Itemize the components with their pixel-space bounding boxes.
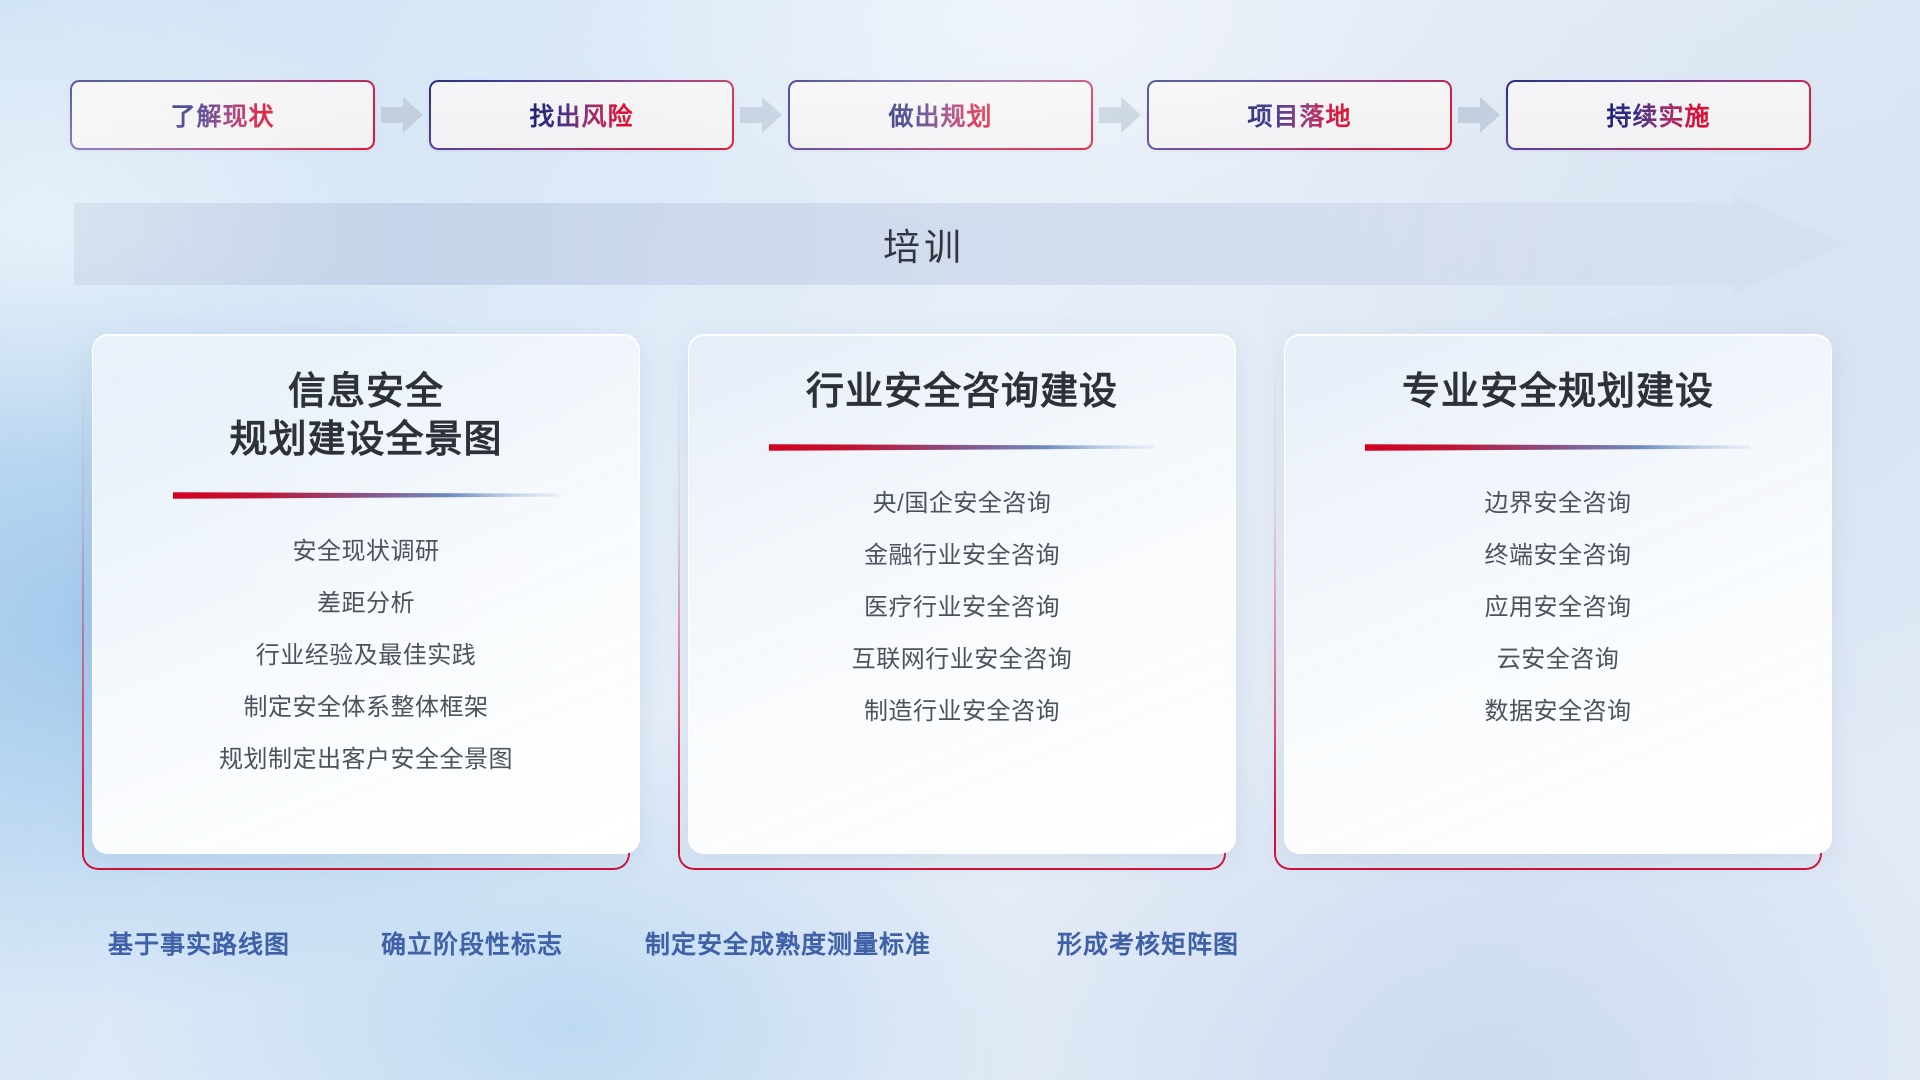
card-list-item: 金融行业安全咨询 — [864, 535, 1060, 570]
card-list-item: 边界安全咨询 — [1485, 483, 1632, 518]
process-step-label: 了解现状 — [170, 97, 274, 133]
card-list-item: 差距分析 — [317, 583, 415, 618]
process-step-3[interactable]: 做出规划 — [788, 80, 1093, 150]
slide-canvas: 了解现状 找出风险 做出规划 项目落地 — [0, 0, 1920, 1080]
card-body: 信息安全 规划建设全景图 — [92, 334, 640, 854]
card-item-list: 边界安全咨询 终端安全咨询 应用安全咨询 云安全咨询 数据安全咨询 — [1311, 483, 1805, 726]
card-list-item: 制定安全体系整体框架 — [244, 687, 489, 722]
card-list-item: 云安全咨询 — [1497, 639, 1620, 674]
card-body: 行业安全咨询建设 — [688, 334, 1236, 854]
process-step-5[interactable]: 持续实施 — [1506, 80, 1811, 150]
card-divider — [769, 443, 1154, 451]
process-step-2[interactable]: 找出风险 — [429, 80, 734, 150]
card-item-list: 安全现状调研 差距分析 行业经验及最佳实践 制定安全体系整体框架 规划制定出客户… — [119, 531, 613, 774]
training-banner-label: 培训 — [74, 195, 1774, 293]
card-body: 专业安全规划建设 — [1284, 334, 1832, 854]
outcome-label: 基于事实路线图 — [108, 925, 290, 961]
outcome-label-row: 基于事实路线图 确立阶段性标志 制定安全成熟度测量标准 形成考核矩阵图 — [0, 925, 1920, 971]
step-arrow-icon-3 — [1093, 92, 1147, 138]
step-arrow-icon-1 — [375, 92, 429, 138]
process-step-4[interactable]: 项目落地 — [1147, 80, 1452, 150]
outcome-label: 形成考核矩阵图 — [1057, 925, 1239, 961]
card-list-item: 规划制定出客户安全全景图 — [219, 739, 513, 774]
card-list-item: 央/国企安全咨询 — [873, 483, 1052, 518]
card-list-item: 行业经验及最佳实践 — [256, 635, 477, 670]
card-list-item: 数据安全咨询 — [1485, 691, 1632, 726]
process-step-label: 做出规划 — [888, 97, 992, 133]
process-step-label: 持续实施 — [1606, 97, 1710, 133]
card-title: 专业安全规划建设 — [1402, 369, 1714, 417]
capability-card-group: 信息安全 规划建设全景图 — [92, 334, 1832, 854]
card-divider — [173, 491, 558, 499]
outcome-label: 制定安全成熟度测量标准 — [645, 925, 931, 961]
card-list-item: 应用安全咨询 — [1485, 587, 1632, 622]
capability-card-3[interactable]: 专业安全规划建设 — [1284, 334, 1832, 854]
process-step-label: 项目落地 — [1247, 97, 1351, 133]
step-arrow-icon-4 — [1452, 92, 1506, 138]
capability-card-1[interactable]: 信息安全 规划建设全景图 — [92, 334, 640, 854]
card-list-item: 医疗行业安全咨询 — [864, 587, 1060, 622]
outcome-label: 确立阶段性标志 — [381, 925, 563, 961]
card-title: 信息安全 规划建设全景图 — [229, 369, 502, 465]
card-title: 行业安全咨询建设 — [806, 369, 1118, 417]
capability-card-2[interactable]: 行业安全咨询建设 — [688, 334, 1236, 854]
card-item-list: 央/国企安全咨询 金融行业安全咨询 医疗行业安全咨询 互联网行业安全咨询 制造行… — [715, 483, 1209, 726]
card-list-item: 安全现状调研 — [293, 531, 440, 566]
process-step-label: 找出风险 — [529, 97, 633, 133]
step-arrow-icon-2 — [734, 92, 788, 138]
process-step-chain: 了解现状 找出风险 做出规划 项目落地 — [70, 78, 1850, 152]
process-step-1[interactable]: 了解现状 — [70, 80, 375, 150]
card-list-item: 制造行业安全咨询 — [864, 691, 1060, 726]
training-banner: 培训 — [74, 195, 1844, 293]
card-divider — [1365, 443, 1750, 451]
card-list-item: 终端安全咨询 — [1485, 535, 1632, 570]
card-list-item: 互联网行业安全咨询 — [852, 639, 1073, 674]
